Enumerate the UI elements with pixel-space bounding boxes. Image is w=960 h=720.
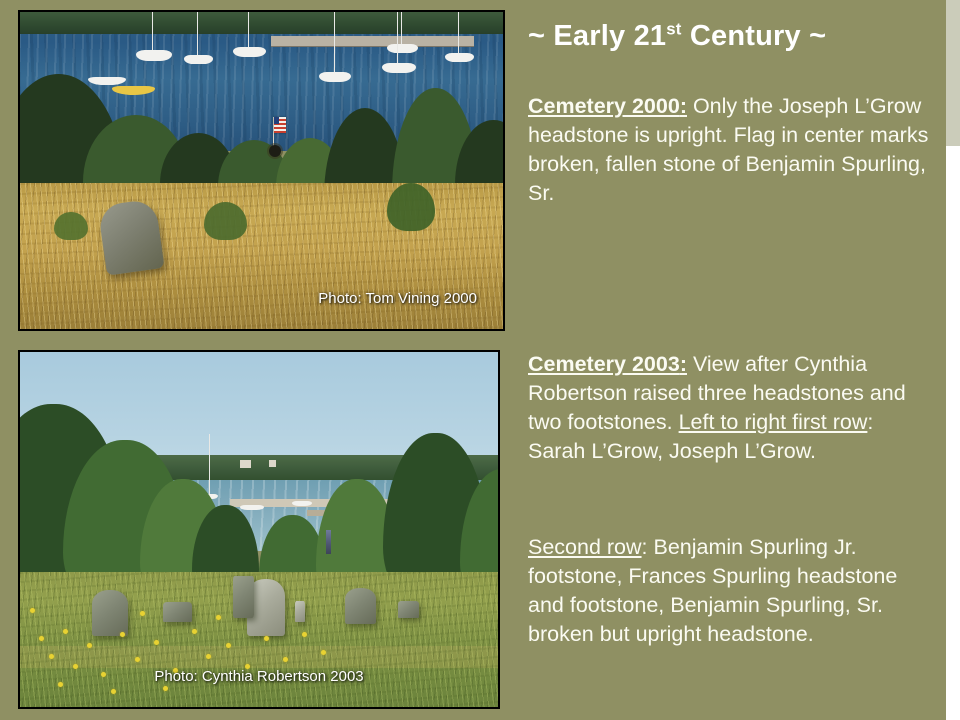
wildflower — [226, 643, 231, 648]
sailboat — [319, 72, 350, 82]
sailboat — [136, 50, 172, 61]
wildflower — [264, 636, 269, 641]
title-prefix: ~ Early 21 — [528, 20, 666, 52]
footstone — [295, 601, 306, 622]
american-flag-icon — [274, 117, 286, 133]
wildflower — [49, 654, 54, 659]
headstone-sarah-lgrow — [92, 590, 128, 636]
photo-cemetery-2000-image: Photo: Tom Vining 2000 — [20, 12, 503, 329]
sailboat — [387, 44, 418, 54]
first-row-label: Left to right first row — [679, 410, 868, 434]
title-superscript: st — [666, 19, 681, 38]
wildflower — [140, 611, 145, 616]
field-shrub — [54, 212, 88, 241]
cemetery-2003-lead: Cemetery 2003 — [528, 352, 680, 376]
cemetery-2003-lead-colon: : — [680, 352, 687, 376]
headstone-broken-benjamin-spurling-sr — [233, 576, 255, 619]
page-title: ~ Early 21st Century ~ — [528, 20, 938, 53]
wildflower — [87, 643, 92, 648]
cemetery-2000-lead-colon: : — [680, 94, 687, 118]
wildflower — [216, 615, 221, 620]
field-shrub — [204, 202, 247, 240]
photo-cemetery-2003[interactable]: Photo: Cynthia Robertson 2003 — [18, 350, 500, 709]
wildflower — [30, 608, 35, 613]
text-block-cemetery-2000: Cemetery 2000: Only the Joseph L’Grow he… — [528, 92, 936, 208]
footstone — [398, 601, 420, 619]
wildflower — [63, 629, 68, 634]
photo-cemetery-2003-image: Photo: Cynthia Robertson 2003 — [20, 352, 498, 707]
headstone-frances-spurling — [345, 588, 376, 624]
title-suffix: Century ~ — [682, 20, 827, 52]
right-edge-beige-strip — [946, 0, 960, 146]
wildflower — [154, 640, 159, 645]
sailboat — [233, 47, 267, 57]
wildflower — [192, 629, 197, 634]
text-block-second-row: Second row: Benjamin Spurling Jr. footst… — [528, 533, 936, 649]
footstone — [163, 602, 192, 622]
right-edge-white-strip — [946, 146, 960, 720]
photo-caption-2003: Photo: Cynthia Robertson 2003 — [154, 668, 363, 685]
sailboat — [445, 53, 474, 62]
photo-caption-2000: Photo: Tom Vining 2000 — [318, 290, 477, 307]
cemetery-2000-lead: Cemetery 2000 — [528, 94, 680, 118]
sailboat — [382, 63, 416, 73]
treeline — [20, 430, 498, 593]
photo-cemetery-2000[interactable]: Photo: Tom Vining 2000 — [18, 10, 505, 331]
meadow-upper-band — [20, 646, 498, 668]
harbor-dock — [271, 36, 474, 46]
slide-canvas: Photo: Tom Vining 2000 — [0, 0, 960, 720]
wildflower — [101, 672, 106, 677]
second-row-label: Second row — [528, 535, 642, 559]
person-figure — [326, 530, 331, 554]
text-block-cemetery-2003: Cemetery 2003: View after Cynthia Robert… — [528, 350, 936, 466]
sailboat — [184, 55, 213, 65]
far-shoreline — [20, 12, 503, 34]
